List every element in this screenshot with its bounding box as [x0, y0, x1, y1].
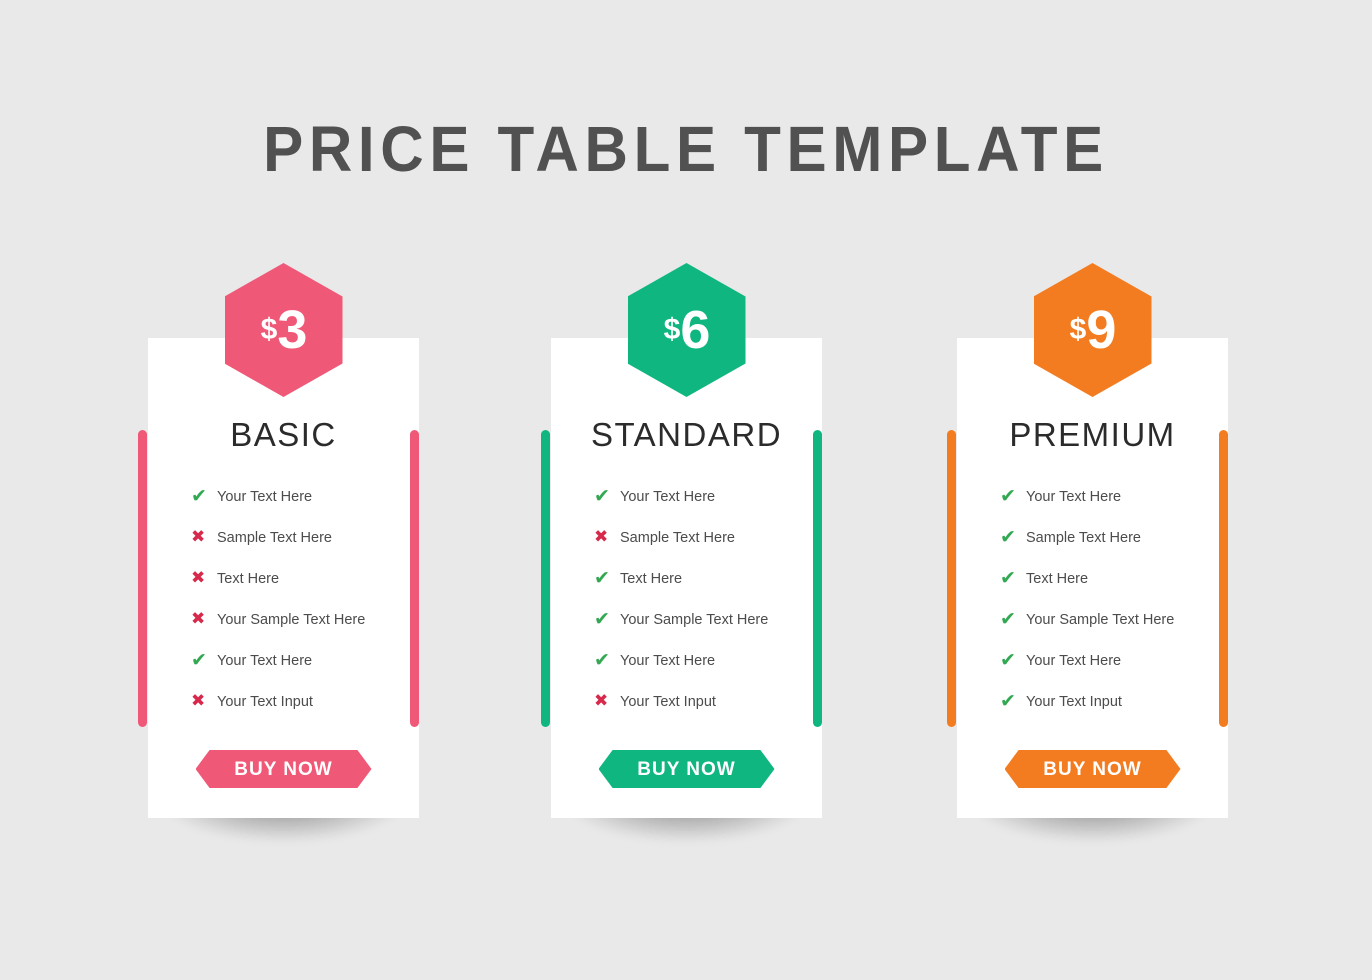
- feature-item: ✔Your Sample Text Here: [1000, 599, 1230, 640]
- plan-name: BASIC: [148, 416, 419, 454]
- feature-label: Sample Text Here: [620, 530, 735, 546]
- plan-name: PREMIUM: [957, 416, 1228, 454]
- buy-now-button[interactable]: BUY NOW: [196, 750, 372, 788]
- feature-item: ✔Your Text Here: [1000, 640, 1230, 681]
- feature-item: ✖Your Sample Text Here: [191, 599, 421, 640]
- check-icon: ✔: [191, 651, 217, 670]
- feature-item: ✔Your Sample Text Here: [594, 599, 824, 640]
- feature-label: Your Text Input: [620, 694, 716, 710]
- feature-label: Your Text Here: [1026, 653, 1121, 669]
- feature-item: ✖Your Text Input: [191, 681, 421, 722]
- feature-label: Text Here: [1026, 571, 1088, 587]
- cross-icon: ✖: [191, 529, 217, 546]
- feature-item: ✖Your Text Input: [594, 681, 824, 722]
- pricing-cards-container: $3BASIC✔Your Text Here✖Sample Text Here✖…: [0, 0, 1372, 980]
- cross-icon: ✖: [191, 570, 217, 587]
- pricing-card-premium: $9PREMIUM✔Your Text Here✔Sample Text Her…: [957, 338, 1228, 818]
- check-icon: ✔: [594, 569, 620, 588]
- check-icon: ✔: [1000, 487, 1026, 506]
- feature-item: ✔Your Text Here: [594, 476, 824, 517]
- price-value: $3: [261, 303, 307, 357]
- feature-label: Sample Text Here: [217, 530, 332, 546]
- check-icon: ✔: [1000, 528, 1026, 547]
- feature-label: Text Here: [620, 571, 682, 587]
- feature-label: Your Sample Text Here: [620, 612, 768, 628]
- pricing-card-standard: $6STANDARD✔Your Text Here✖Sample Text He…: [551, 338, 822, 818]
- price-currency-symbol: $: [664, 315, 680, 345]
- check-icon: ✔: [1000, 692, 1026, 711]
- accent-rail-left: [138, 430, 147, 727]
- price-amount: 6: [680, 303, 709, 357]
- feature-item: ✔Sample Text Here: [1000, 517, 1230, 558]
- feature-label: Sample Text Here: [1026, 530, 1141, 546]
- feature-label: Your Text Here: [217, 653, 312, 669]
- price-amount: 9: [1086, 303, 1115, 357]
- check-icon: ✔: [191, 487, 217, 506]
- plan-name: STANDARD: [551, 416, 822, 454]
- price-amount: 3: [277, 303, 306, 357]
- feature-list: ✔Your Text Here✔Sample Text Here✔Text He…: [1000, 476, 1230, 722]
- feature-label: Your Text Here: [1026, 489, 1121, 505]
- buy-now-button[interactable]: BUY NOW: [1005, 750, 1181, 788]
- feature-item: ✔Your Text Here: [191, 476, 421, 517]
- feature-label: Your Text Here: [620, 653, 715, 669]
- feature-item: ✔Your Text Input: [1000, 681, 1230, 722]
- feature-item: ✖Text Here: [191, 558, 421, 599]
- feature-label: Your Text Here: [620, 489, 715, 505]
- cross-icon: ✖: [191, 693, 217, 710]
- feature-list: ✔Your Text Here✖Sample Text Here✔Text He…: [594, 476, 824, 722]
- feature-label: Text Here: [217, 571, 279, 587]
- cross-icon: ✖: [594, 529, 620, 546]
- pricing-card-basic: $3BASIC✔Your Text Here✖Sample Text Here✖…: [148, 338, 419, 818]
- feature-label: Your Sample Text Here: [217, 612, 365, 628]
- check-icon: ✔: [1000, 610, 1026, 629]
- feature-list: ✔Your Text Here✖Sample Text Here✖Text He…: [191, 476, 421, 722]
- feature-label: Your Text Input: [217, 694, 313, 710]
- feature-item: ✔Text Here: [594, 558, 824, 599]
- feature-item: ✔Your Text Here: [1000, 476, 1230, 517]
- feature-item: ✔Your Text Here: [594, 640, 824, 681]
- accent-rail-left: [947, 430, 956, 727]
- check-icon: ✔: [1000, 651, 1026, 670]
- cross-icon: ✖: [594, 693, 620, 710]
- feature-item: ✖Sample Text Here: [191, 517, 421, 558]
- check-icon: ✔: [1000, 569, 1026, 588]
- accent-rail-left: [541, 430, 550, 727]
- feature-item: ✔Text Here: [1000, 558, 1230, 599]
- cross-icon: ✖: [191, 611, 217, 628]
- feature-item: ✖Sample Text Here: [594, 517, 824, 558]
- check-icon: ✔: [594, 651, 620, 670]
- price-table-page: PRICE TABLE TEMPLATE $3BASIC✔Your Text H…: [0, 0, 1372, 980]
- price-currency-symbol: $: [261, 315, 277, 345]
- feature-label: Your Text Here: [217, 489, 312, 505]
- check-icon: ✔: [594, 610, 620, 629]
- feature-item: ✔Your Text Here: [191, 640, 421, 681]
- buy-now-button[interactable]: BUY NOW: [599, 750, 775, 788]
- price-value: $9: [1070, 303, 1116, 357]
- feature-label: Your Text Input: [1026, 694, 1122, 710]
- check-icon: ✔: [594, 487, 620, 506]
- price-currency-symbol: $: [1070, 315, 1086, 345]
- price-value: $6: [664, 303, 710, 357]
- feature-label: Your Sample Text Here: [1026, 612, 1174, 628]
